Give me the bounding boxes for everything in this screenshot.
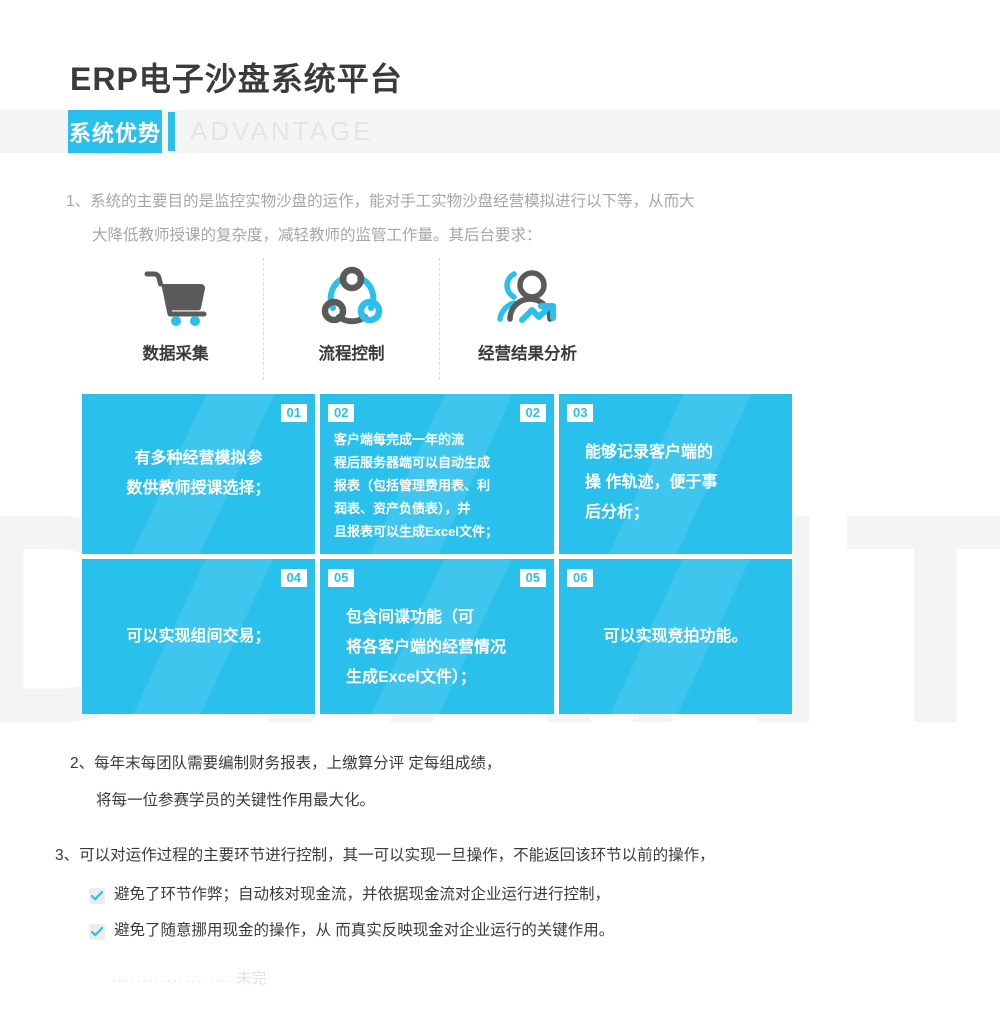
feature-label-process-control: 流程控制: [319, 340, 385, 364]
check-list-item: 避免了随意挪用现金的操作，从 而真实反映现金对企业运行的关键作用。: [55, 920, 715, 942]
section-badge-label: 系统优势: [69, 116, 161, 148]
section3-paragraph: 3、可以对运作过程的主要环节进行控制，其一可以实现一旦操作，不能返回该环节以前的…: [55, 840, 715, 956]
advantage-card-05[interactable]: 05 05 包含间谍功能（可 将各客户端的经营情况 生成Excel文件）；: [320, 559, 554, 714]
shopping-cart-icon: [143, 258, 209, 336]
check-list-item: 避免了环节作弊；自动核对现金流，并依据现金流对企业运行进行控制，: [55, 884, 715, 906]
advantage-card-03[interactable]: 03 能够记录客户端的 操 作轨迹，便于事 后分析；: [559, 394, 792, 554]
intro-line-1: 1、系统的主要目的是监控实物沙盘的运作，能对手工实物沙盘经营模拟进行以下等，从而…: [66, 185, 695, 219]
check-item-text: 避免了环节作弊；自动核对现金流，并依据现金流对企业运行进行控制，: [114, 884, 610, 906]
card-number-badge-02-left: 02: [328, 404, 354, 422]
section3-check-list: 避免了环节作弊；自动核对现金流，并依据现金流对企业运行进行控制， 避免了随意挪用…: [55, 884, 715, 942]
advantage-card-02[interactable]: 02 02 客户端每完成一年的流 程后服务器端可以自动生成 报表（包括管理费用表…: [320, 394, 554, 554]
footer-label: 未完: [236, 967, 266, 988]
feature-icons-row: 数据采集 流程控制: [88, 258, 628, 380]
check-icon: [89, 888, 105, 904]
feature-item-data-collection: 数据采集: [88, 258, 263, 380]
card-number-badge-04: 04: [281, 569, 307, 587]
card-number-badge-02-right: 02: [520, 404, 546, 422]
advantage-card-04[interactable]: 04 可以实现组间交易；: [82, 559, 315, 714]
check-icon: [89, 924, 105, 940]
card-number-badge-05-right: 05: [520, 569, 546, 587]
feature-item-result-analysis: 经营结果分析: [439, 258, 615, 380]
card-text-06: 可以实现竞拍功能。: [559, 559, 792, 714]
section3-lead: 3、可以对运作过程的主要环节进行控制，其一可以实现一旦操作，不能返回该环节以前的…: [55, 840, 715, 872]
check-item-text: 避免了随意挪用现金的操作，从 而真实反映现金对企业运行的关键作用。: [114, 920, 614, 942]
card-text-03: 能够记录客户端的 操 作轨迹，便于事 后分析；: [559, 394, 792, 528]
section-badge: 系统优势: [68, 110, 162, 153]
page-root: DVANTA ERP电子沙盘系统平台 系统优势 ADVANTAGE 1、系统的主…: [0, 0, 1000, 1024]
section-badge-divider: [168, 112, 175, 151]
advantage-card-06[interactable]: 06 可以实现竞拍功能。: [559, 559, 792, 714]
card-number-badge-06: 06: [567, 569, 593, 587]
section2-line-1: 2、每年末每团队需要编制财务报表，上缴算分评 定每组成绩，: [70, 745, 501, 782]
section2-paragraph: 2、每年末每团队需要编制财务报表，上缴算分评 定每组成绩， 将每一位参赛学员的关…: [70, 745, 501, 819]
advantage-card-grid: 01 有多种经营模拟参数供教师授课选择； 02 02 客户端每完成一年的流 程后…: [82, 394, 792, 714]
card-number-badge-05-left: 05: [328, 569, 354, 587]
intro-paragraph: 1、系统的主要目的是监控实物沙盘的运作，能对手工实物沙盘经营模拟进行以下等，从而…: [66, 185, 695, 253]
intro-line-2: 大降低教师授课的复杂度，减轻教师的监管工作量。其后台要求：: [66, 219, 695, 253]
feature-label-data-collection: 数据采集: [143, 340, 209, 364]
section-english-label: ADVANTAGE: [190, 110, 374, 153]
card-number-badge-01: 01: [281, 404, 307, 422]
user-analytics-icon: [492, 258, 564, 336]
process-flow-icon: [319, 258, 385, 336]
page-title: ERP电子沙盘系统平台: [70, 54, 403, 100]
section2-line-2: 将每一位参赛学员的关键性作用最大化。: [70, 782, 501, 819]
feature-label-result-analysis: 经营结果分析: [478, 340, 577, 364]
feature-item-process-control: 流程控制: [263, 258, 439, 380]
advantage-card-01[interactable]: 01 有多种经营模拟参数供教师授课选择；: [82, 394, 315, 554]
card-number-badge-03: 03: [567, 404, 593, 422]
footer-dots: ....................: [112, 968, 234, 988]
footer-continuation: .................... 未完: [112, 967, 266, 988]
